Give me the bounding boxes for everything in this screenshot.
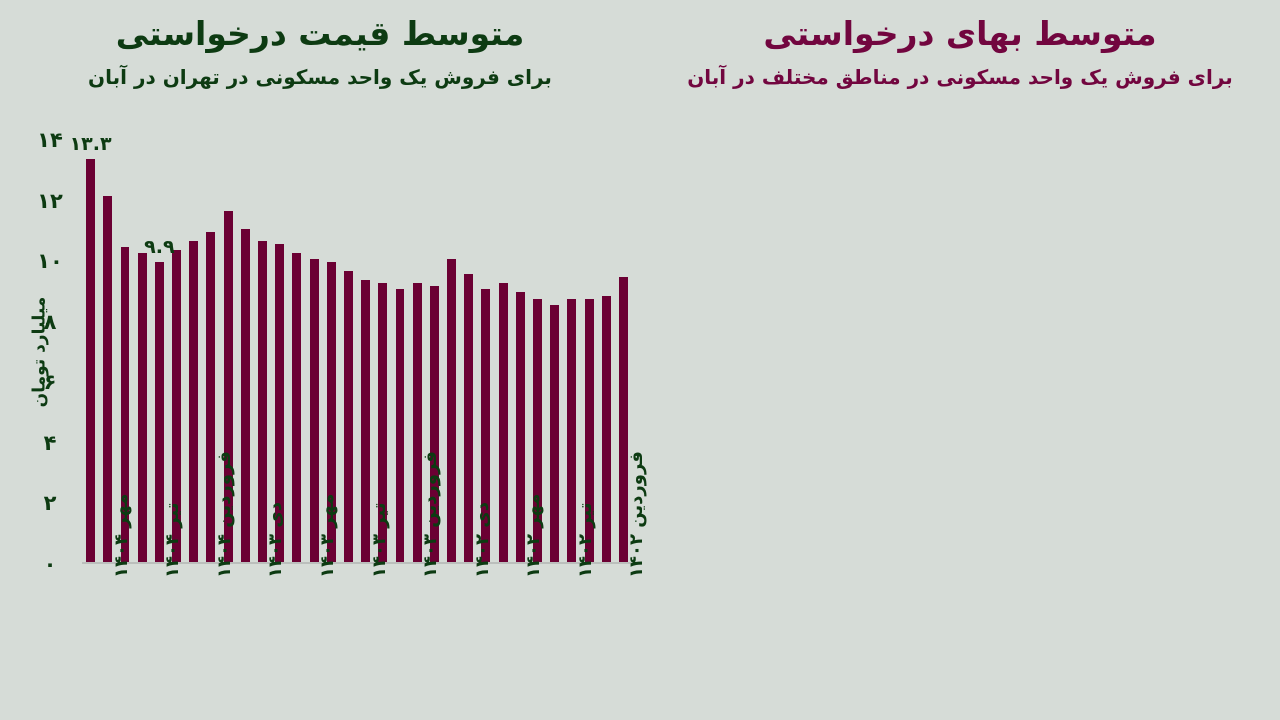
bar[interactable]: [292, 253, 301, 562]
left-chart-title: متوسط قیمت درخواستی: [0, 14, 640, 54]
bar-slot[interactable]: [185, 138, 202, 562]
x-tick-label: تیر ۱۴۰۴: [162, 502, 183, 578]
bar-slot[interactable]: [580, 138, 597, 562]
bar[interactable]: [447, 259, 456, 562]
x-tick-label: مهر ۱۴۰۴: [111, 494, 132, 578]
bar-slot[interactable]: [357, 138, 374, 562]
bar-slot[interactable]: [168, 138, 185, 562]
bar-slot[interactable]: [237, 138, 254, 562]
right-chart-panel: متوسط بهای درخواستی برای فروش یک واحد مس…: [640, 0, 1280, 720]
bar-slot[interactable]: [460, 138, 477, 562]
x-tick-label: مهر ۱۴۰۳: [317, 494, 338, 578]
x-tick-label: مهر ۱۴۰۲: [523, 494, 544, 578]
left-y-axis-title: میلیارد تومان: [29, 297, 49, 408]
bar[interactable]: [602, 296, 611, 563]
y-tick-label: ۱۲: [22, 189, 78, 213]
infographic-canvas: متوسط قیمت درخواستی برای فروش یک واحد مس…: [0, 0, 1280, 720]
bar-slot[interactable]: [563, 138, 580, 562]
left-chart-subtitle: برای فروش یک واحد مسکونی در تهران در آبا…: [0, 63, 640, 91]
left-plot-area: ۰۲۴۶۸۱۰۱۲۱۴ میلیارد تومان ۹.۹۱۳.۳ فروردی…: [82, 140, 632, 564]
x-tick-label: فروردین ۱۴۰۴: [214, 451, 235, 578]
bar-slot[interactable]: ۱۳.۳: [82, 138, 99, 562]
y-tick-label: ۱۰: [22, 249, 78, 273]
bar-slot[interactable]: [134, 138, 151, 562]
x-tick-label: دی ۱۴۰۲: [472, 502, 493, 578]
bar[interactable]: [138, 253, 147, 562]
y-tick-label: ۲: [22, 491, 78, 515]
bar-slot[interactable]: [546, 138, 563, 562]
x-tick-label: تیر ۱۴۰۲: [575, 502, 596, 578]
x-tick-label: دی ۱۴۰۳: [265, 502, 286, 578]
bar-slot[interactable]: [443, 138, 460, 562]
bar-slot[interactable]: [254, 138, 271, 562]
bar[interactable]: [396, 289, 405, 562]
right-chart-subtitle: برای فروش یک واحد مسکونی در مناطق مختلف …: [640, 63, 1280, 91]
bar-slot[interactable]: [374, 138, 391, 562]
bar-slot[interactable]: [598, 138, 615, 562]
bar[interactable]: [344, 271, 353, 562]
bar-slot[interactable]: [477, 138, 494, 562]
left-chart-panel: متوسط قیمت درخواستی برای فروش یک واحد مس…: [0, 0, 640, 720]
y-tick-label: ۱۴: [22, 128, 78, 152]
bar-slot[interactable]: [288, 138, 305, 562]
bar[interactable]: [189, 241, 198, 562]
left-bar-series: ۹.۹۱۳.۳: [82, 138, 632, 562]
bar[interactable]: [86, 159, 95, 562]
bar-slot[interactable]: [340, 138, 357, 562]
bar[interactable]: [499, 283, 508, 562]
x-tick-label: فروردین ۱۴۰۳: [420, 451, 441, 578]
y-tick-label: ۴: [22, 431, 78, 455]
x-tick-label: تیر ۱۴۰۳: [369, 502, 390, 578]
y-tick-label: ۰: [22, 552, 78, 576]
bar-slot[interactable]: [391, 138, 408, 562]
bar[interactable]: [550, 305, 559, 562]
bar[interactable]: [241, 229, 250, 562]
bar-slot[interactable]: [271, 138, 288, 562]
bar-slot[interactable]: [495, 138, 512, 562]
right-chart-title: متوسط بهای درخواستی: [640, 14, 1280, 54]
bar-slot[interactable]: ۹.۹: [151, 138, 168, 562]
